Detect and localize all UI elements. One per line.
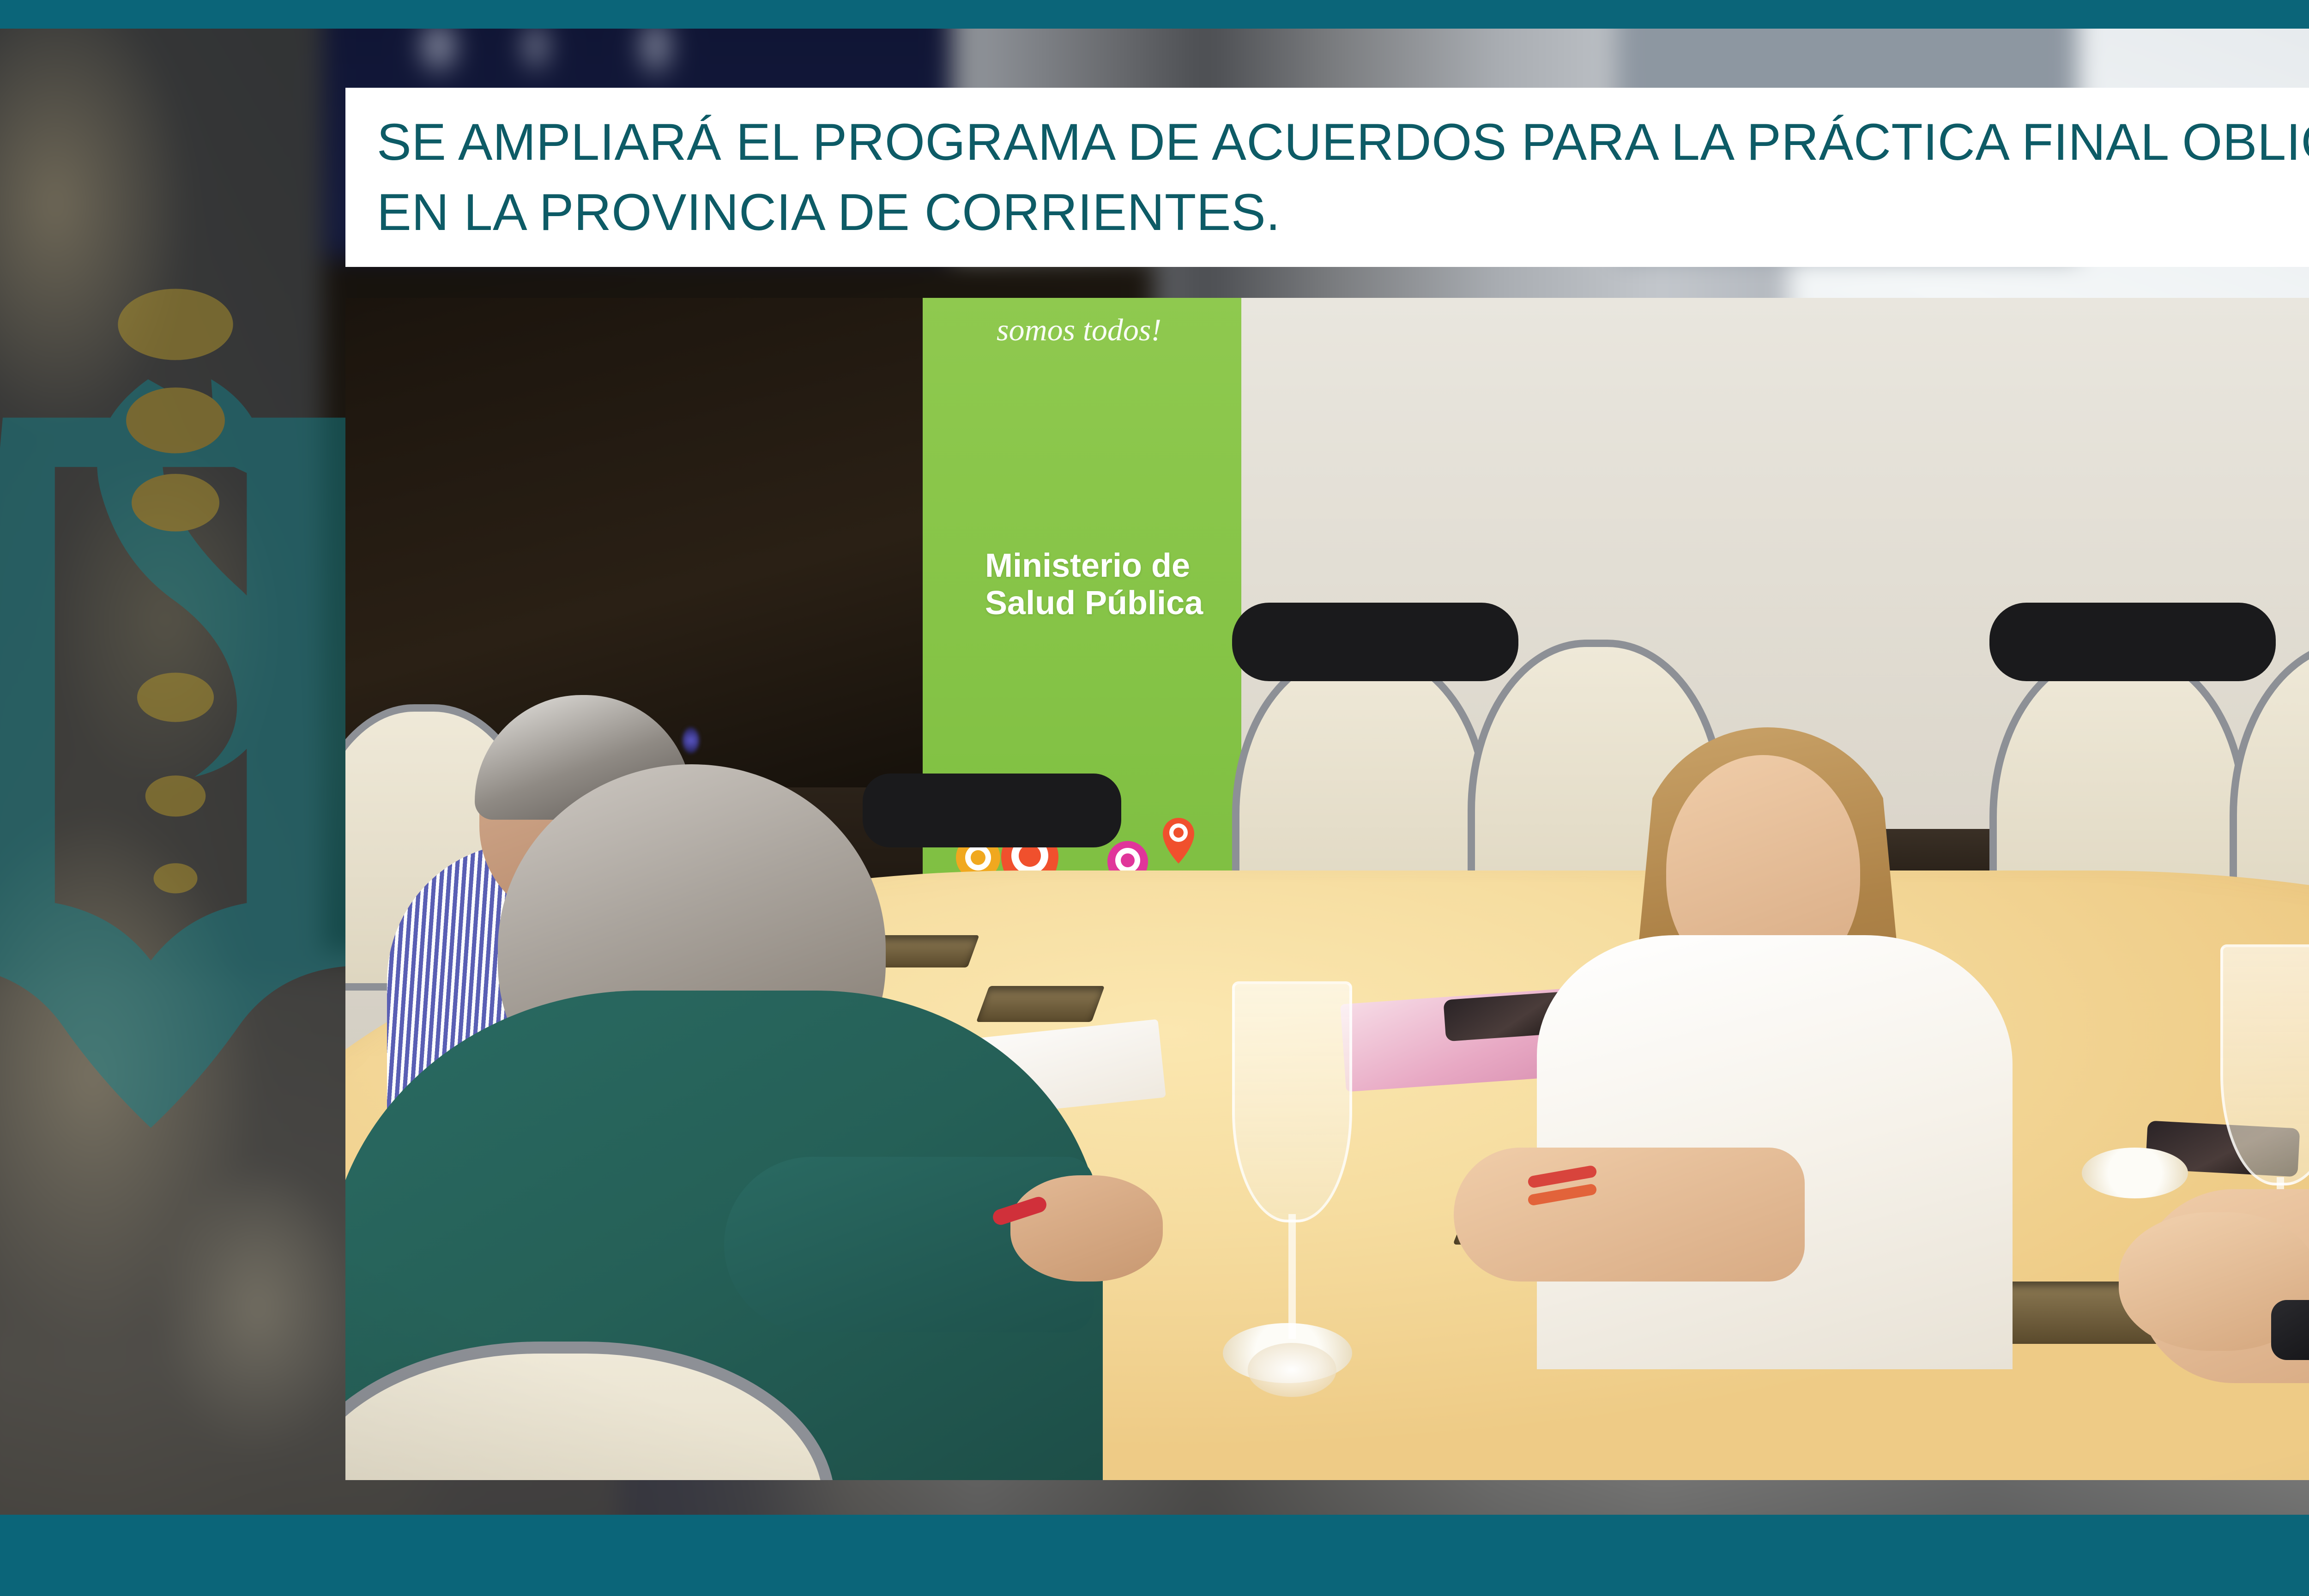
bottom-accent-bar: [0, 1515, 2309, 1596]
slide-root: SE AMPLIARÁ EL PROGRAMA DE ACUERDOS PARA…: [0, 0, 2309, 1596]
meeting-photo: somos todos! Ministerio de Salud Pública: [345, 298, 2309, 1480]
top-accent-bar: [0, 0, 2309, 29]
page-title: SE AMPLIARÁ EL PROGRAMA DE ACUERDOS PARA…: [345, 107, 2309, 248]
title-panel: SE AMPLIARÁ EL PROGRAMA DE ACUERDOS PARA…: [345, 88, 2309, 267]
